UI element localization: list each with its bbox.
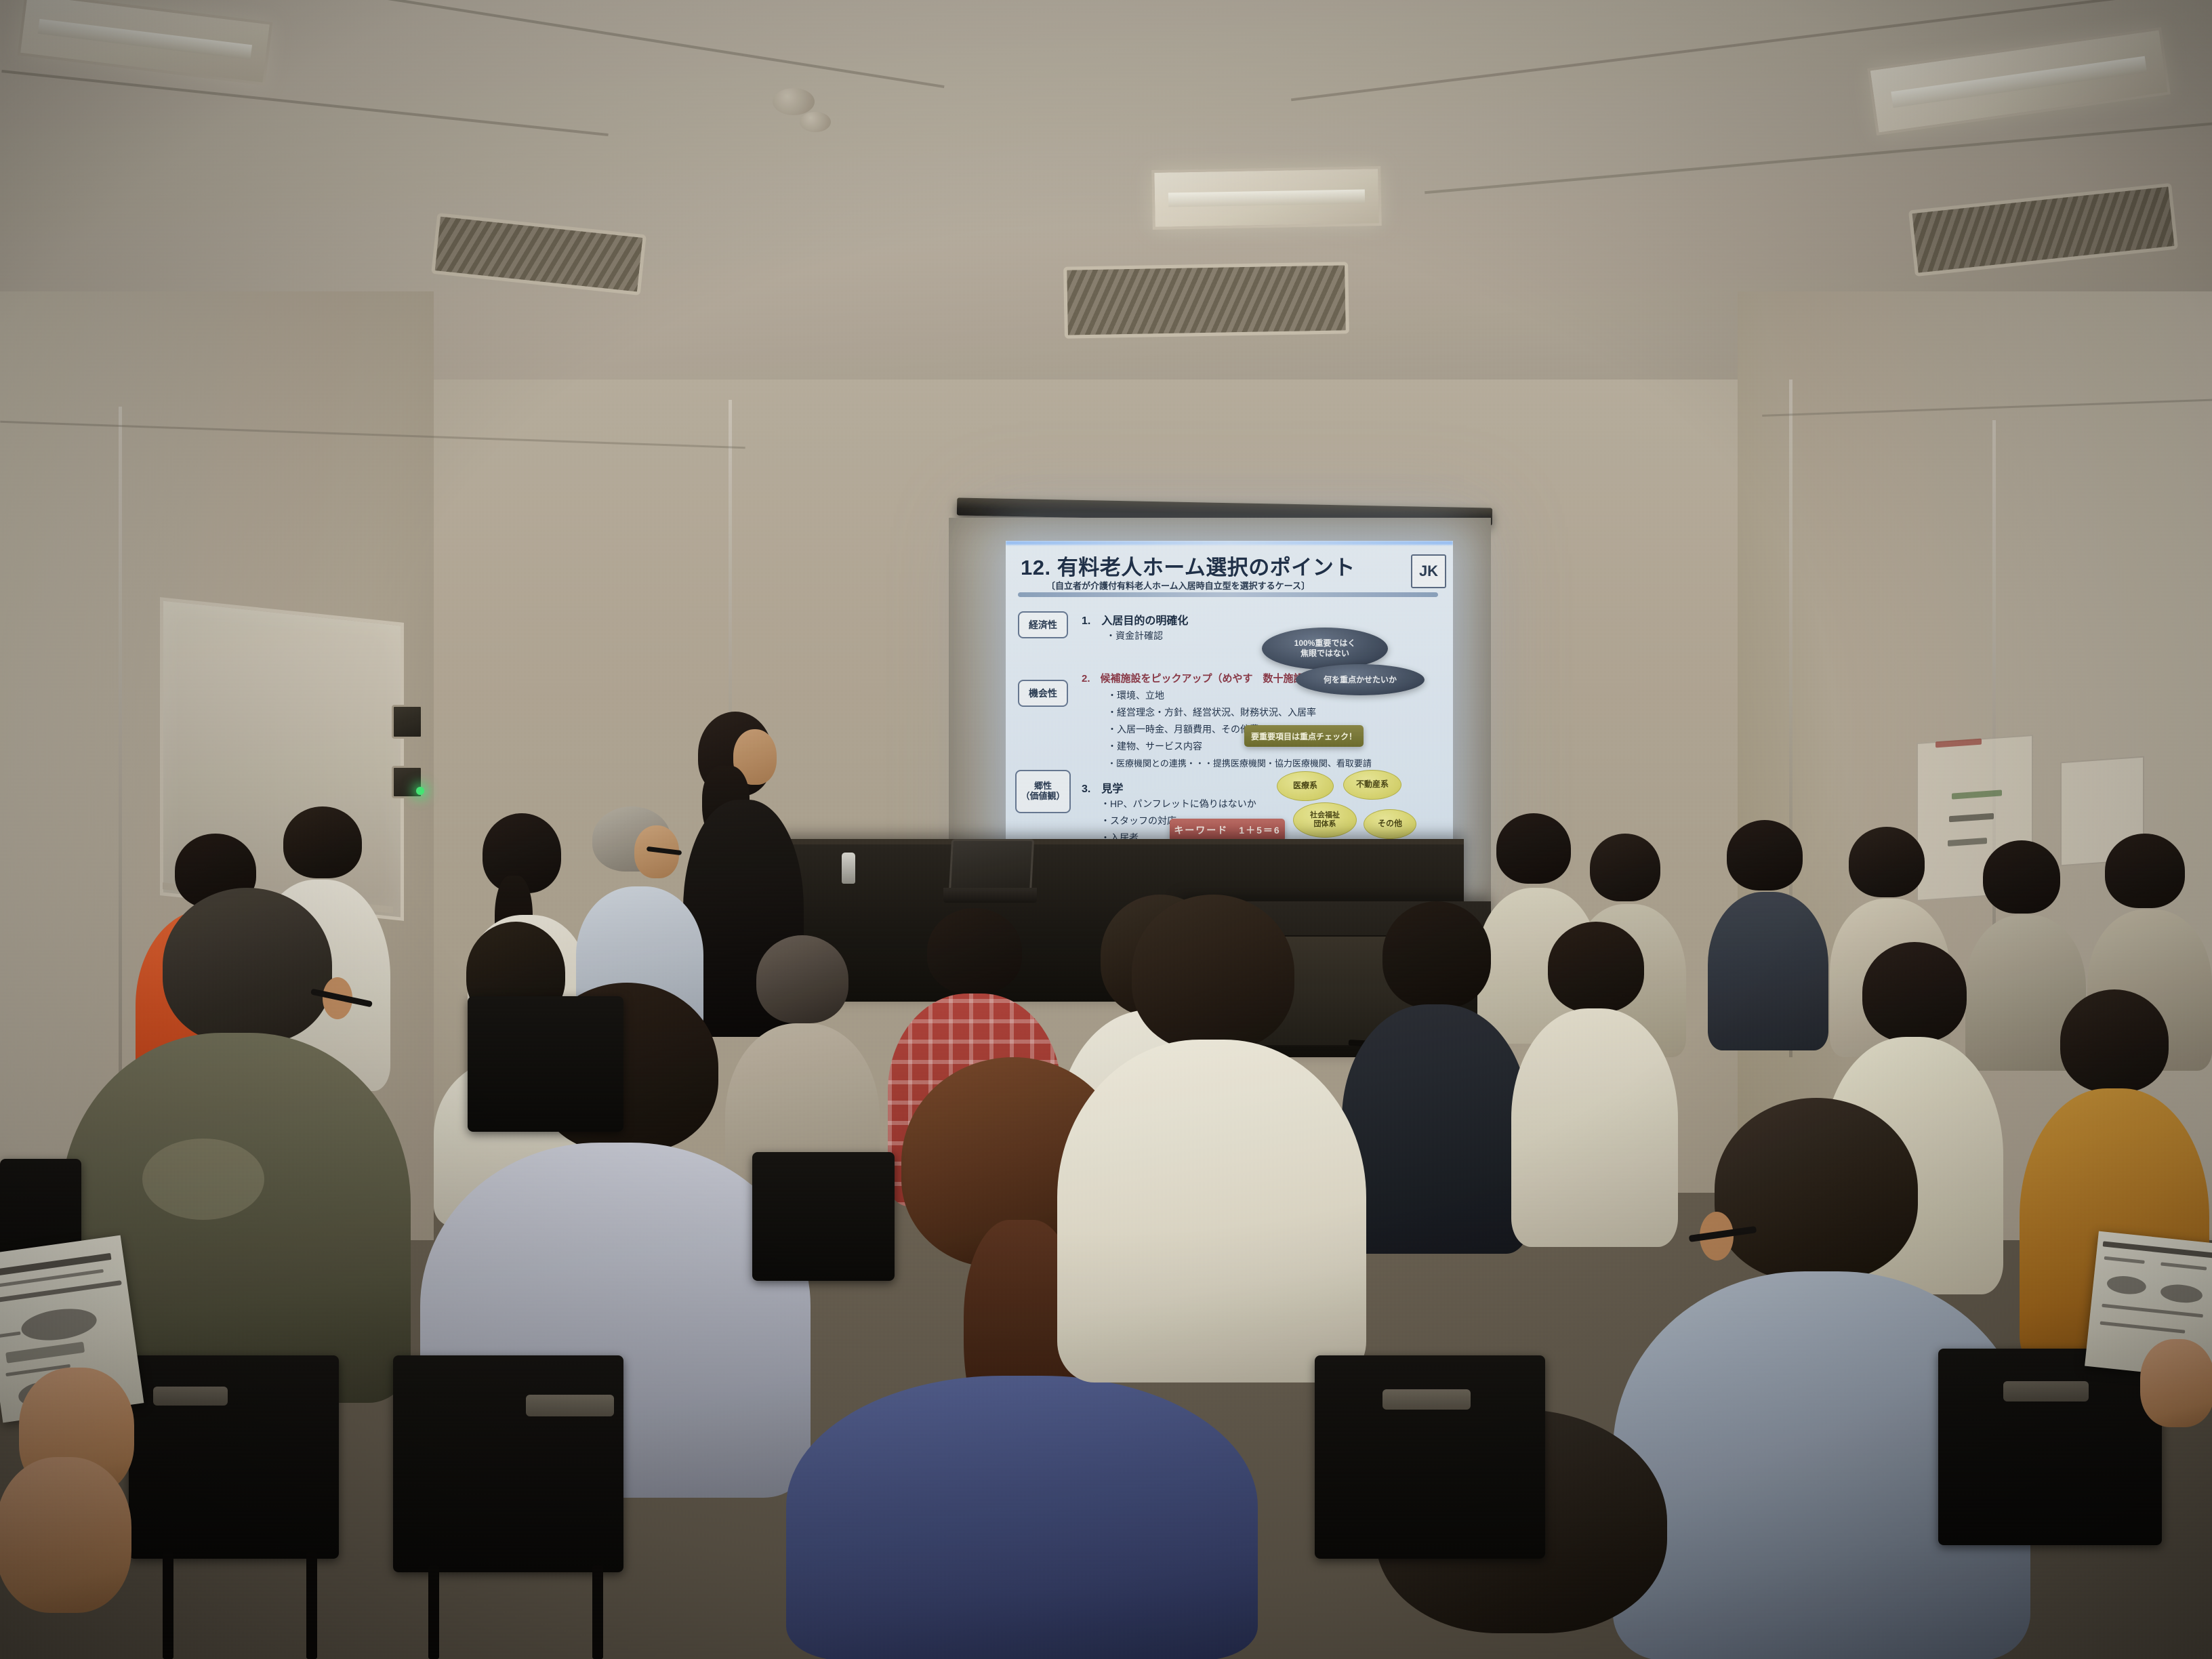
tshirt-graphic-icon [142, 1139, 264, 1220]
audience-hair [1983, 840, 2060, 914]
power-led-indicator [416, 787, 424, 795]
slide-category-values: 郷性 （価値観） [1015, 770, 1071, 813]
audience-hair [1862, 942, 1967, 1042]
audience-hair [1590, 834, 1660, 901]
slide-category-opportunity: 機会性 [1018, 680, 1068, 707]
slide-callout-olive-chip: 要重要項目は重点チェック！ [1244, 725, 1364, 747]
ceiling-air-vent [1063, 262, 1349, 338]
slide-section-3-item-1: ・HP、パンフレットに偽りはないか [1101, 797, 1256, 811]
stacking-chair[interactable] [129, 1355, 339, 1559]
ceiling-light-panel [1151, 166, 1381, 230]
chair-leg [592, 1565, 603, 1659]
stacking-chair[interactable] [1315, 1355, 1545, 1559]
slide-badge-medical: 医療系 [1277, 771, 1334, 801]
chair-leg [163, 1552, 173, 1659]
slide-section-2-heading: 2. 候補施設をピックアップ（めやす 数十施設） [1082, 671, 1314, 685]
audience-member [1342, 901, 1532, 1254]
stacking-chair[interactable] [393, 1355, 623, 1572]
audience-hair [283, 806, 362, 878]
slide-badge-realestate: 不動産系 [1343, 770, 1401, 800]
presenter-laptop-base[interactable] [943, 888, 1037, 903]
slide-badge-welfare: 社会福祉 団体系 [1293, 802, 1357, 838]
chair-handle-slot [2003, 1381, 2089, 1401]
slide-section-2-item-1: ・環境、立地 [1107, 689, 1164, 702]
water-bottle [842, 853, 855, 884]
slide-section-2-item-5: ・医療機関との連携・・・提携医療機関・協力医療機関、看取要請 [1107, 756, 1372, 769]
audience-body [1708, 892, 1828, 1050]
slide-section-3-heading: 3. 見学 [1082, 779, 1123, 796]
slide-section-2-item-2: ・経営理念・方針、経営状況、財務状況、入居率 [1107, 705, 1316, 719]
audience-hair [2060, 989, 2169, 1092]
table-front-edge [779, 839, 1464, 844]
slide-keyword-chip: キーワード 1＋5＝6 [1170, 819, 1285, 842]
audience-member [1057, 895, 1369, 1382]
stacking-chair[interactable] [752, 1152, 895, 1281]
audience-member [1708, 820, 1830, 1050]
handout-bubble-graphic [2106, 1274, 2147, 1296]
presenter-laptop-lid[interactable] [949, 839, 1034, 893]
hand-holding-handout [2140, 1339, 2212, 1427]
chair-handle-slot [1382, 1389, 1471, 1410]
audience-hair [1715, 1098, 1918, 1281]
chair-handle-slot [153, 1387, 228, 1406]
slide-section-3-item-2: ・スタッフの対応 [1101, 814, 1176, 827]
handout-body-line [2104, 1256, 2145, 1264]
wall-control-panel[interactable] [392, 705, 423, 739]
handout-body-line [2160, 1262, 2207, 1270]
audience-hair [1496, 813, 1571, 884]
handout-bubble-graphic [2160, 1283, 2203, 1305]
handout-body-line [2100, 1322, 2186, 1334]
handout-body-line [0, 1332, 21, 1338]
handout-body-line [2102, 1304, 2203, 1318]
ceiling-speaker-icon [773, 88, 815, 115]
chair-leg [428, 1565, 439, 1659]
audience-hair [163, 888, 332, 1044]
slide-title: 12. 有料老人ホーム選択のポイント [1021, 550, 1355, 581]
handout-title-line [2103, 1241, 2212, 1258]
presentation-slide: 12. 有料老人ホーム選択のポイント JK 〔自立者が介護付有料老人ホーム入居時… [1006, 541, 1453, 890]
audience-hair [2105, 834, 2185, 908]
stacking-chair[interactable] [468, 996, 623, 1132]
seminar-room-photo: 12. 有料老人ホーム選択のポイント JK 〔自立者が介護付有料老人ホーム入居時… [0, 0, 2212, 1659]
ceiling-speaker-icon [800, 112, 831, 132]
slide-badge-other: その他 [1364, 809, 1416, 839]
audience-body [1057, 1040, 1366, 1382]
hand-holding-handout [0, 1457, 131, 1613]
audience-hair [1548, 922, 1644, 1012]
slide-section-2-item-4: ・建物、サービス内容 [1107, 739, 1202, 753]
audience-hair [1727, 820, 1803, 890]
slide-section-1-heading: 1. 入居目的の明確化 [1082, 611, 1188, 628]
slide-title-badge: JK [1411, 554, 1446, 588]
slide-top-glow [1006, 541, 1453, 545]
chair-handle-slot [526, 1395, 614, 1416]
stacking-chair[interactable] [1938, 1349, 2162, 1545]
audience-body [1342, 1004, 1529, 1254]
slide-subtitle: 〔自立者が介護付有料老人ホーム入居時自立型を選択するケース〕 [1046, 579, 1310, 592]
slide-category-economy: 経済性 [1018, 611, 1068, 638]
audience-hair [1849, 827, 1925, 897]
slide-title-rule [1018, 592, 1438, 597]
audience-hair [1132, 895, 1294, 1050]
slide-section-1-item-1: ・資金計確認 [1106, 629, 1163, 642]
handout-body-band [5, 1342, 85, 1364]
audience-hair [927, 908, 1022, 994]
slide-callout-bubble-2: 何を重点かせたいか [1296, 664, 1425, 695]
chair-leg [306, 1552, 317, 1659]
audience-body-blue-blouse [786, 1376, 1258, 1659]
audience-hair [1382, 901, 1491, 1008]
slide-callout-bubble-1: 100%重要ではく 焦眼ではない [1262, 628, 1388, 670]
handout-bubble-graphic [20, 1305, 99, 1345]
